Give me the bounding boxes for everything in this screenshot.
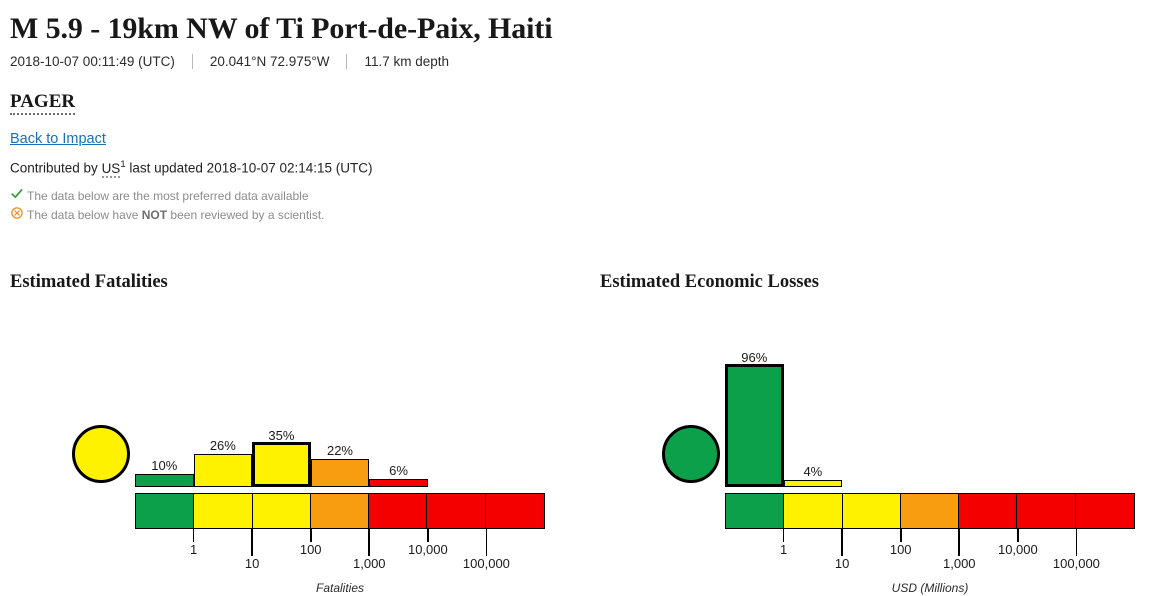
scale-segment [1076,494,1134,528]
axis-tick [1017,529,1019,542]
axis-tick-label: 1 [780,542,787,557]
axis-tick [1076,529,1078,556]
status-preferred-text: The data below are the most preferred da… [27,187,309,205]
axis-tick [783,529,785,542]
scale-segment [194,494,252,528]
meta-divider [346,54,347,69]
histogram-bar: 96% [725,364,784,487]
scale-segment [1017,494,1075,528]
page-title: M 5.9 - 19km NW of Ti Port-de-Paix, Hait… [10,12,1154,46]
meta-divider [192,54,193,69]
status-preferred-data: The data below are the most preferred da… [10,187,1154,205]
chart-panel-economic-losses: Estimated Economic Losses 96%4%1101001,0… [600,272,1154,587]
yellow-alert-circle [72,425,130,483]
scale-segment [369,494,427,528]
scale-segment [427,494,485,528]
event-depth: 11.7 km depth [364,54,449,69]
event-time: 2018-10-07 00:11:49 (UTC) [10,54,175,69]
scale-segment [253,494,311,528]
scale-segment [901,494,959,528]
scale-segment [959,494,1017,528]
axis-tick-label: 100,000 [463,556,510,571]
contributed-suffix: last updated 2018-10-07 02:14:15 (UTC) [126,161,373,176]
bar-value-label: 4% [803,464,822,479]
axis-tick-label: 100 [300,542,322,557]
scale-segment [784,494,842,528]
axis-tick [193,529,195,542]
axis-tick-label: 10,000 [998,542,1038,557]
contributor-abbr: US [102,161,121,178]
status-not-reviewed-text: The data below have NOT been reviewed by… [27,206,325,224]
scale-segment [486,494,544,528]
color-scale-bar [725,493,1135,529]
plot-area-economic-losses: 96%4%1101001,00010,000100,000USD (Millio… [600,297,1154,587]
axis-tick-label: 1,000 [943,556,976,571]
axis-caption: Fatalities [316,581,364,595]
scale-segment [136,494,194,528]
status-text-pre: The data below have [27,208,142,222]
bar-value-label: 6% [389,463,408,478]
histogram-bar: 26% [194,454,253,487]
scale-segment [843,494,901,528]
bar-value-label: 35% [268,428,294,443]
axis-tick [310,529,312,542]
event-coordinates: 20.041°N 72.975°W [210,54,330,69]
pager-section: PAGER Back to Impact Contributed by US1 … [0,92,1154,224]
histogram-bar: 4% [784,480,843,487]
green-alert-circle [662,425,720,483]
chart-title-economic-losses: Estimated Economic Losses [600,272,1154,293]
bar-value-label: 22% [327,443,353,458]
event-header: M 5.9 - 19km NW of Ti Port-de-Paix, Hait… [0,0,1154,69]
bar-value-label: 10% [151,458,177,473]
pager-heading: PAGER [10,92,75,116]
axis-tick [251,529,253,556]
axis-tick-label: 1,000 [353,556,386,571]
histogram: 96%4% [725,359,1135,487]
axis-tick-label: 1 [190,542,197,557]
axis-tick-label: 10,000 [408,542,448,557]
axis-tick [427,529,429,542]
axis-tick-label: 100,000 [1053,556,1100,571]
bar-value-label: 26% [210,438,236,453]
axis-tick [486,529,488,556]
plot-area-fatalities: 10%26%35%22%6%1101001,00010,000100,000Fa… [10,297,580,587]
circled-x-icon [10,207,24,219]
check-icon [10,188,24,200]
histogram-bar: 6% [369,479,428,487]
axis-tick-label: 100 [890,542,912,557]
bar-value-label: 96% [741,350,767,365]
axis-caption: USD (Millions) [892,581,969,595]
histogram-bar: 22% [311,459,370,487]
status-text-post: been reviewed by a scientist. [167,208,324,222]
axis-tick-label: 10 [245,556,259,571]
event-metadata: 2018-10-07 00:11:49 (UTC) 20.041°N 72.97… [10,54,1154,69]
histogram-bar: 10% [135,474,194,487]
axis-tick [900,529,902,542]
chart-title-fatalities: Estimated Fatalities [10,272,580,293]
axis-tick [958,529,960,556]
back-to-impact-link[interactable]: Back to Impact [10,131,106,147]
color-scale-bar [135,493,545,529]
axis-tick [841,529,843,556]
contributed-by-line: Contributed by US1 last updated 2018-10-… [10,159,1154,176]
scale-segment [311,494,369,528]
status-not-reviewed: The data below have NOT been reviewed by… [10,206,1154,224]
status-text-emphasis: NOT [142,208,167,222]
histogram: 10%26%35%22%6% [135,359,545,487]
axis-tick-label: 10 [835,556,849,571]
scale-segment [726,494,784,528]
chart-panel-fatalities: Estimated Fatalities 10%26%35%22%6%11010… [10,272,580,587]
histogram-bar: 35% [252,442,311,487]
contributed-prefix: Contributed by [10,161,102,176]
axis-tick [368,529,370,556]
